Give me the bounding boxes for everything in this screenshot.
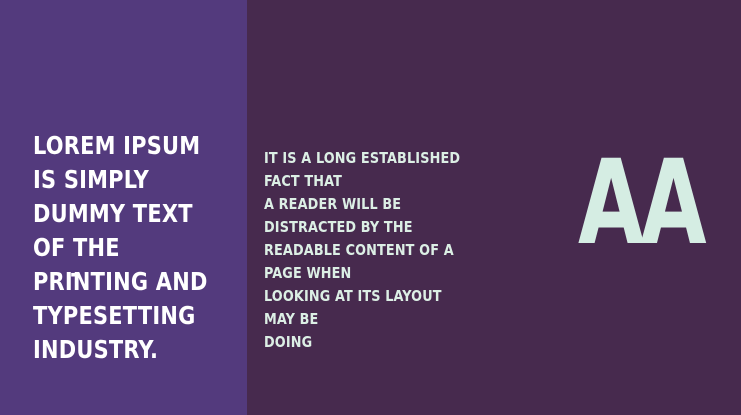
heading-sample-text: Lorem Ipsum is simply dummy text of the … [33, 129, 219, 367]
clipped-glyph: - [70, 272, 81, 279]
paragraph-sample-block: It is a long established fact that a rea… [264, 147, 486, 354]
glyph-sample-text: AA [578, 146, 666, 263]
heading-clipped-glyph-fragment: - [70, 272, 81, 280]
paragraph-sample-text: It is a long established fact that a rea… [264, 147, 475, 354]
heading-sample-block: Lorem Ipsum is simply dummy text of the … [33, 129, 233, 367]
glyph-sample-block: AA [578, 146, 678, 266]
font-specimen-page: Lorem Ipsum is simply dummy text of the … [0, 0, 741, 415]
